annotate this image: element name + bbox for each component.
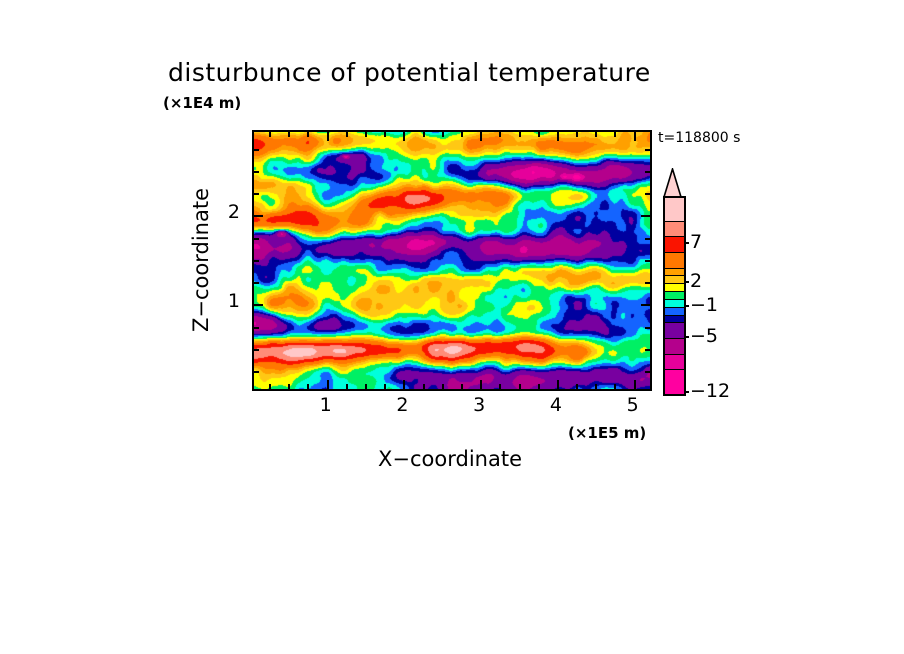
colorbar-band <box>665 222 684 238</box>
colorbar-band <box>665 300 684 308</box>
colorbar-band <box>665 237 684 253</box>
colorbar-band <box>665 284 684 292</box>
colorbar-band <box>665 355 684 371</box>
y-minor-tick-right <box>645 238 650 240</box>
x-major-tick-top <box>480 132 482 141</box>
y-minor-tick <box>254 171 259 173</box>
y-tick-label: 1 <box>212 290 240 312</box>
x-minor-tick-top <box>384 132 386 137</box>
x-minor-tick-top <box>576 132 578 137</box>
x-minor-tick <box>442 384 444 389</box>
colorbar-band <box>665 253 684 269</box>
x-minor-tick-top <box>423 132 425 137</box>
x-minor-tick-top <box>269 132 271 137</box>
page-title: disturbunce of potential temperature <box>168 58 748 87</box>
x-axis-unit-label: (×1E5 m) <box>568 424 646 442</box>
x-major-tick-top <box>634 132 636 141</box>
y-major-tick-right <box>641 304 650 306</box>
y-minor-tick <box>254 371 259 373</box>
colorbar-band <box>665 339 684 355</box>
colorbar-tick <box>684 242 689 244</box>
timestamp-annotation: t=118800 s <box>658 130 740 146</box>
x-minor-tick <box>519 384 521 389</box>
x-tick-label: 2 <box>382 394 422 416</box>
x-minor-tick-top <box>365 132 367 137</box>
x-minor-tick-top <box>442 132 444 137</box>
x-minor-tick-top <box>519 132 521 137</box>
y-minor-tick-right <box>645 171 650 173</box>
x-minor-tick <box>269 384 271 389</box>
colorbar-band <box>665 276 684 284</box>
colorbar-tick-label: −5 <box>690 325 718 347</box>
x-minor-tick <box>346 384 348 389</box>
colorbar-tick <box>684 281 689 283</box>
y-minor-tick-right <box>645 371 650 373</box>
y-minor-tick-right <box>645 260 650 262</box>
x-tick-label: 4 <box>536 394 576 416</box>
contour-plot-area[interactable] <box>252 130 652 391</box>
x-tick-label: 5 <box>613 394 653 416</box>
x-minor-tick <box>384 384 386 389</box>
x-minor-tick-top <box>614 132 616 137</box>
y-minor-tick <box>254 238 259 240</box>
y-minor-tick <box>254 349 259 351</box>
colorbar-band <box>665 198 684 222</box>
x-minor-tick-top <box>307 132 309 137</box>
y-minor-tick <box>254 260 259 262</box>
colorbar-band <box>665 308 684 316</box>
x-minor-tick <box>288 384 290 389</box>
y-minor-tick <box>254 193 259 195</box>
x-tick-label: 1 <box>306 394 346 416</box>
x-axis-title: X−coordinate <box>0 447 904 471</box>
colorbar-band <box>665 323 684 339</box>
x-minor-tick <box>538 384 540 389</box>
x-minor-tick <box>576 384 578 389</box>
x-minor-tick <box>461 384 463 389</box>
x-minor-tick <box>307 384 309 389</box>
x-minor-tick <box>365 384 367 389</box>
x-minor-tick <box>614 384 616 389</box>
x-minor-tick <box>595 384 597 389</box>
y-minor-tick-right <box>645 149 650 151</box>
colorbar-band <box>665 269 684 277</box>
y-minor-tick <box>254 282 259 284</box>
y-axis-title: Z−coordinate <box>186 160 216 360</box>
colorbar-tick-label: 2 <box>690 270 702 292</box>
x-major-tick-top <box>557 132 559 141</box>
x-major-tick <box>634 380 636 389</box>
colorbar-tick <box>684 336 689 338</box>
y-major-tick-right <box>641 215 650 217</box>
x-minor-tick-top <box>461 132 463 137</box>
figure-canvas: disturbunce of potential temperature (×1… <box>0 0 904 654</box>
x-minor-tick-top <box>346 132 348 137</box>
contour-field <box>254 132 650 389</box>
x-minor-tick-top <box>538 132 540 137</box>
colorbar-tick <box>684 391 689 393</box>
colorbar-band <box>665 292 684 300</box>
x-major-tick-top <box>403 132 405 141</box>
y-minor-tick-right <box>645 327 650 329</box>
y-tick-label: 2 <box>212 201 240 223</box>
x-major-tick <box>480 380 482 389</box>
x-minor-tick-top <box>595 132 597 137</box>
colorbar-tick-label: −12 <box>690 380 730 402</box>
x-major-tick-top <box>327 132 329 141</box>
colorbar-band <box>665 370 684 394</box>
x-major-tick <box>327 380 329 389</box>
y-minor-tick <box>254 327 259 329</box>
y-minor-tick-right <box>645 282 650 284</box>
x-minor-tick-top <box>288 132 290 137</box>
x-minor-tick <box>499 384 501 389</box>
z-axis-unit-label: (×1E4 m) <box>163 94 241 112</box>
x-tick-label: 3 <box>459 394 499 416</box>
y-minor-tick <box>254 149 259 151</box>
colorbar-tick-label: −1 <box>690 294 718 316</box>
y-minor-tick-right <box>645 349 650 351</box>
colorbar-tick <box>684 305 689 307</box>
x-minor-tick <box>423 384 425 389</box>
y-major-tick <box>254 304 263 306</box>
colorbar-extend-arrow-icon <box>661 168 684 198</box>
x-major-tick <box>557 380 559 389</box>
colorbar-band <box>665 316 684 324</box>
y-major-tick <box>254 215 263 217</box>
x-major-tick <box>403 380 405 389</box>
colorbar-tick-label: 7 <box>690 231 702 253</box>
x-minor-tick-top <box>499 132 501 137</box>
y-minor-tick-right <box>645 193 650 195</box>
colorbar[interactable] <box>663 196 686 396</box>
